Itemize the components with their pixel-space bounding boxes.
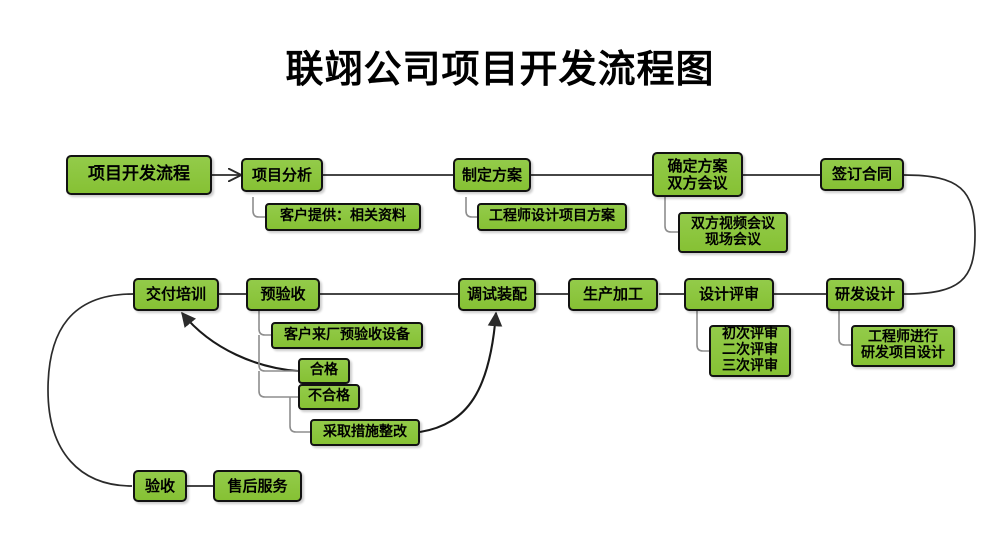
node-accept[interactable]: 验收 — [133, 470, 187, 502]
node-preaccept-detail[interactable]: 客户来厂预验收设备 — [271, 322, 423, 349]
node-pass[interactable]: 合格 — [298, 358, 350, 384]
page-title: 联翊公司项目开发流程图 — [0, 38, 1000, 93]
node-preaccept[interactable]: 预验收 — [246, 278, 320, 311]
flowchart-canvas: 联翊公司项目开发流程图 — [0, 0, 1000, 541]
node-fail[interactable]: 不合格 — [298, 384, 360, 410]
link-training-to-accept — [48, 294, 133, 486]
subline-confirm — [665, 197, 679, 232]
node-aftersales[interactable]: 售后服务 — [213, 470, 302, 502]
node-contract[interactable]: 签订合同 — [820, 158, 904, 191]
node-rd-detail[interactable]: 工程师进行 研发项目设计 — [851, 325, 955, 367]
node-plan-detail[interactable]: 工程师设计项目方案 — [477, 203, 627, 231]
node-rectify[interactable]: 采取措施整改 — [310, 419, 420, 446]
node-analysis-detail[interactable]: 客户提供：相关资料 — [265, 203, 421, 231]
node-confirm[interactable]: 确定方案 双方会议 — [652, 152, 743, 197]
node-analysis[interactable]: 项目分析 — [241, 158, 323, 192]
node-assemble[interactable]: 调试装配 — [458, 278, 536, 311]
node-produce[interactable]: 生产加工 — [568, 278, 658, 311]
node-plan[interactable]: 制定方案 — [453, 158, 531, 192]
link-rectify-to-assemble — [420, 313, 496, 432]
node-start[interactable]: 项目开发流程 — [66, 155, 212, 195]
node-review[interactable]: 设计评审 — [684, 278, 774, 311]
link-contract-to-rd — [904, 175, 975, 294]
subline-fail — [259, 371, 298, 397]
node-rd[interactable]: 研发设计 — [826, 278, 904, 311]
node-confirm-detail[interactable]: 双方视频会议 现场会议 — [678, 212, 788, 253]
node-training[interactable]: 交付培训 — [133, 278, 219, 311]
node-review-detail[interactable]: 初次评审 二次评审 三次评审 — [709, 325, 791, 377]
